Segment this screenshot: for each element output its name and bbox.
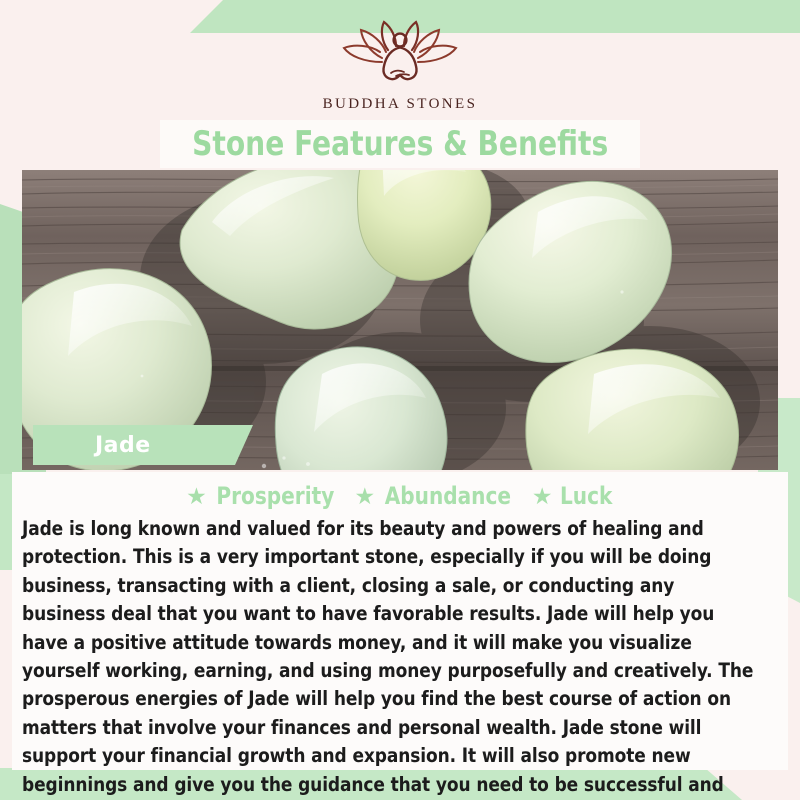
brand-logo: BUDDHA STONES xyxy=(0,18,800,113)
stone-description: Jade is long known and valued for its be… xyxy=(22,515,761,800)
star-icon: ★ xyxy=(355,485,376,508)
keyword-row: ★ Prosperity ★ Abundance ★ Luck xyxy=(12,472,788,512)
stone-name-label: Jade xyxy=(95,433,151,458)
keyword-label: Prosperity xyxy=(216,482,334,510)
content-panel: ★ Prosperity ★ Abundance ★ Luck Jade is … xyxy=(12,472,788,770)
keyword-item-prosperity: ★ Prosperity xyxy=(186,482,338,510)
stone-name-badge: Jade xyxy=(33,425,253,465)
stone-info-poster: BUDDHA STONES Stone Features & Benefits xyxy=(0,0,800,800)
star-icon: ★ xyxy=(532,485,553,508)
title-banner: Stone Features & Benefits xyxy=(160,120,640,168)
lotus-meditation-icon xyxy=(330,18,470,90)
page-title: Stone Features & Benefits xyxy=(192,124,608,164)
star-icon: ★ xyxy=(186,485,207,508)
keyword-item-abundance: ★ Abundance xyxy=(355,482,516,510)
keyword-label: Luck xyxy=(560,482,612,510)
brand-name: BUDDHA STONES xyxy=(0,96,800,113)
keyword-item-luck: ★ Luck xyxy=(532,482,614,510)
keyword-label: Abundance xyxy=(385,482,511,510)
